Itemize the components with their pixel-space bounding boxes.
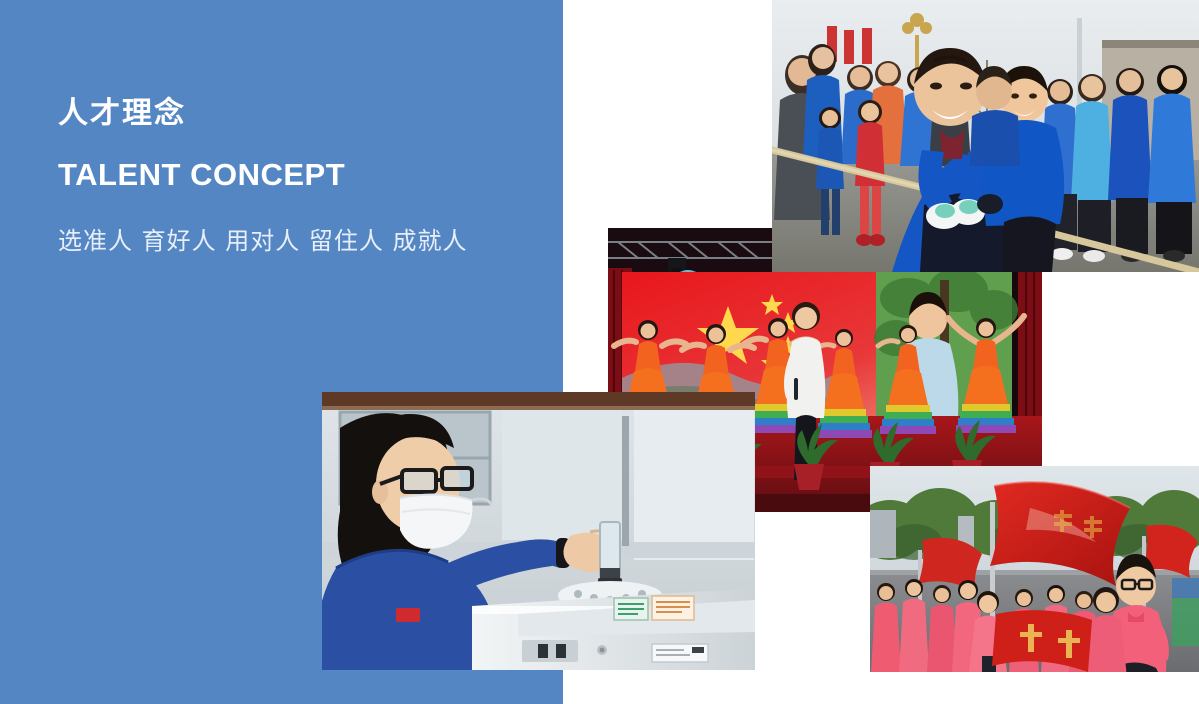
- text-block: 人才理念 TALENT CONCEPT 选准人 育好人 用对人 留住人 成就人: [58, 96, 538, 257]
- lab-technician-photo: [322, 392, 755, 670]
- page-title-cn: 人才理念: [58, 96, 538, 132]
- tug-of-war-illustration: [772, 0, 1199, 272]
- tug-of-war-photo: [772, 0, 1199, 272]
- slide-canvas: 人才理念 TALENT CONCEPT 选准人 育好人 用对人 留住人 成就人: [0, 0, 1199, 704]
- charity-run-photo: [870, 466, 1199, 672]
- lab-technician-illustration: [322, 392, 755, 670]
- charity-run-illustration: [870, 466, 1199, 672]
- page-subtitle: 选准人 育好人 用对人 留住人 成就人: [58, 226, 538, 257]
- page-title-en: TALENT CONCEPT: [58, 158, 538, 192]
